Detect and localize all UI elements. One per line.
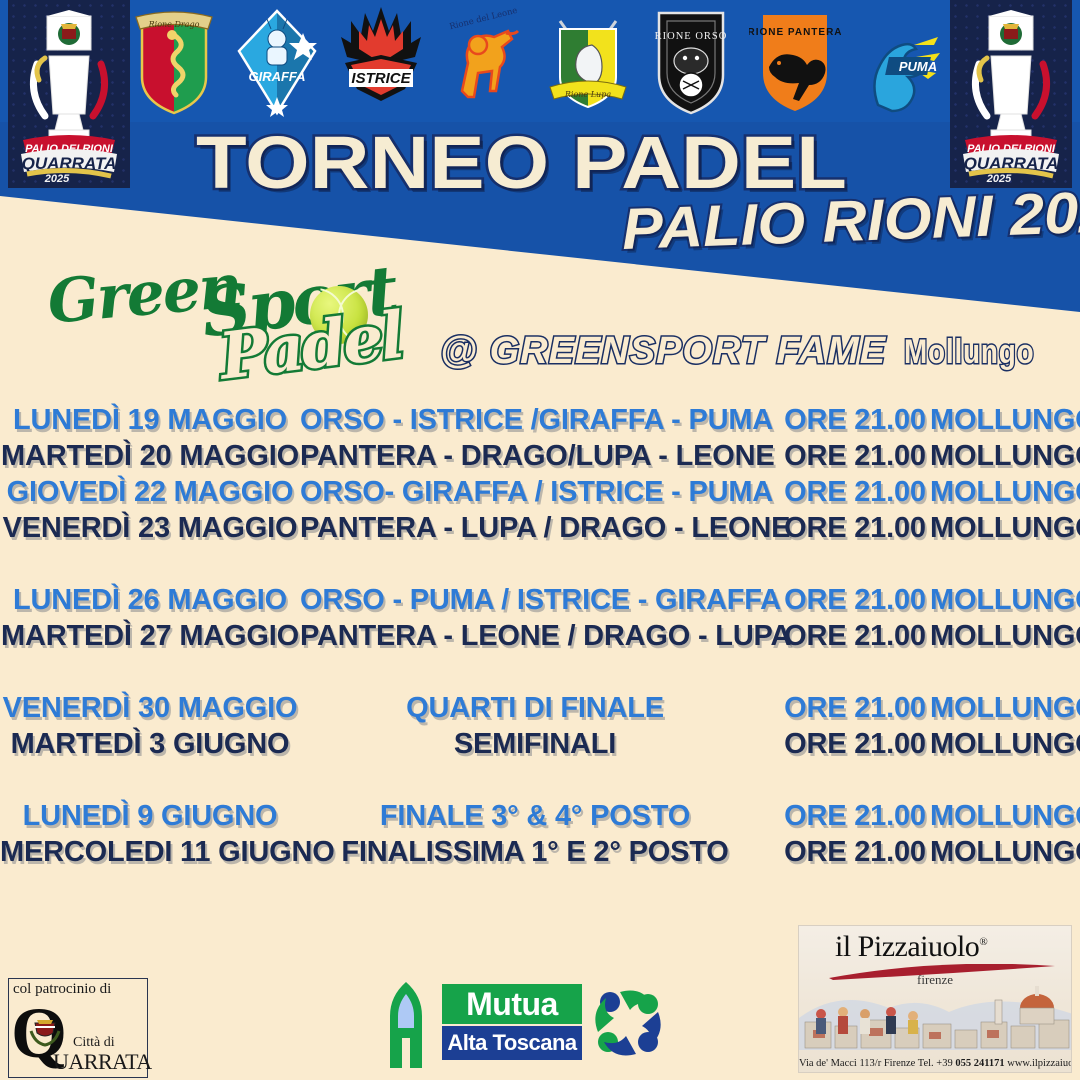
schedule-date: MARTEDÌ 20 MAGGIO: [0, 440, 300, 473]
schedule-row: MERCOLEDI 11 GIUGNOFINALISSIMA 1° E 2° P…: [0, 836, 1080, 870]
palio-logo-line3: 2025: [44, 173, 70, 184]
schedule-time: ORE 21.00: [770, 692, 940, 725]
schedule-venue: MOLLUNGO: [930, 692, 1080, 725]
greensport-padel-logo: Green Sport Padel: [42, 262, 422, 388]
schedule-time: ORE 21.00: [770, 836, 940, 869]
mutua-line1: Mutua: [442, 984, 582, 1024]
schedule-time: ORE 21.00: [770, 440, 940, 473]
mutua-arch-icon: [378, 982, 434, 1068]
schedule-match: PANTERA - DRAGO/LUPA - LEONE: [300, 440, 770, 473]
schedule-match: PANTERA - LUPA / DRAGO - LEONE: [300, 512, 770, 545]
schedule-time: ORE 21.00: [770, 584, 940, 617]
schedule-date: MARTEDÌ 3 GIUGNO: [0, 728, 300, 761]
schedule-match: QUARTI DI FINALE: [300, 692, 770, 725]
svg-text:GIRAFFA: GIRAFFA: [249, 69, 306, 84]
schedule-date: VENERDÌ 23 MAGGIO: [0, 512, 300, 545]
schedule-venue: MOLLUNGO: [930, 584, 1080, 617]
schedule-group: LUNEDÌ 26 MAGGIOORSO - PUMA / ISTRICE - …: [0, 584, 1080, 654]
pizzaiuolo-name-text: il Pizzaiuolo: [835, 930, 979, 963]
schedule-date: LUNEDÌ 19 MAGGIO: [0, 404, 300, 437]
crest-lupa: Rione Lupa: [542, 5, 634, 117]
crest-puma: PUMA: [852, 5, 944, 117]
crest-orso: RIONE ORSO: [645, 5, 737, 117]
pizzaiuolo-name: il Pizzaiuolo®: [835, 930, 987, 964]
schedule-group: LUNEDÌ 19 MAGGIOORSO - ISTRICE /GIRAFFA …: [0, 404, 1080, 546]
crest-istrice: ISTRICE: [335, 5, 427, 117]
schedule-time: ORE 21.00: [770, 728, 940, 761]
schedule-match: FINALISSIMA 1° E 2° POSTO: [300, 836, 770, 869]
schedule-date: LUNEDÌ 26 MAGGIO: [0, 584, 300, 617]
schedule-match: ORSO - PUMA / ISTRICE - GIRAFFA: [300, 584, 770, 617]
schedule-date: MARTEDÌ 27 MAGGIO: [0, 620, 300, 653]
pizzaiuolo-street: Via de' Macci 113/r Firenze Tel. +39: [799, 1058, 955, 1069]
schedule-time: ORE 21.00: [770, 800, 940, 833]
schedule-row: MARTEDÌ 3 GIUGNOSEMIFINALIORE 21.00MOLLU…: [0, 728, 1080, 762]
svg-text:RIONE PANTERA: RIONE PANTERA: [749, 27, 841, 38]
mutua-line2: Alta Toscana: [442, 1026, 582, 1060]
schedule-match: SEMIFINALI: [300, 728, 770, 761]
poster-canvas: Rione Drago GIRAFFA: [0, 0, 1080, 1080]
crest-leone: Rione del Leone: [438, 5, 530, 117]
schedule-venue: MOLLUNGO: [930, 440, 1080, 473]
schedule-venue: MOLLUNGO: [930, 800, 1080, 833]
rione-crests-row: Rione Drago GIRAFFA: [122, 0, 950, 122]
schedule-match: ORSO- GIRAFFA / ISTRICE - PUMA: [300, 476, 770, 509]
sponsor-mutua-alta-toscana: Mutua Alta Toscana: [378, 978, 660, 1074]
sponsor-il-pizzaiuolo: il Pizzaiuolo® firenze: [798, 925, 1072, 1073]
trophy-icon: PALIO DEI RIONI QUARRATA 2025: [15, 8, 123, 184]
svg-text:Rione Lupa: Rione Lupa: [564, 90, 611, 99]
svg-text:Rione Drago: Rione Drago: [148, 20, 200, 29]
schedule-date: MERCOLEDI 11 GIUGNO: [0, 836, 300, 869]
venue-heading: @ GREENSPORT FAMEMollungo: [440, 330, 1063, 373]
schedule-venue: MOLLUNGO: [930, 512, 1080, 545]
crest-pantera: RIONE PANTERA: [749, 5, 841, 117]
schedule-match: ORSO - ISTRICE /GIRAFFA - PUMA: [300, 404, 770, 437]
schedule-venue: MOLLUNGO: [930, 620, 1080, 653]
schedule-row: VENERDÌ 23 MAGGIOPANTERA - LUPA / DRAGO …: [0, 512, 1080, 546]
quarrata-coat-of-arms-icon: [27, 1013, 63, 1049]
quarrata-name-label: UARRATA: [53, 1049, 152, 1075]
schedule-row: LUNEDÌ 26 MAGGIOORSO - PUMA / ISTRICE - …: [0, 584, 1080, 618]
svg-text:Rione del Leone: Rione del Leone: [449, 6, 519, 33]
crest-giraffa: GIRAFFA: [231, 5, 323, 117]
mutua-people-circle-icon: [590, 984, 666, 1060]
schedule-row: LUNEDÌ 9 GIUGNOFINALE 3° & 4° POSTOORE 2…: [0, 800, 1080, 834]
schedule-venue: MOLLUNGO: [930, 476, 1080, 509]
schedule-match: PANTERA - LEONE / DRAGO - LUPA: [300, 620, 770, 653]
schedule-row: GIOVEDÌ 22 MAGGIOORSO- GIRAFFA / ISTRICE…: [0, 476, 1080, 510]
crest-drago: Rione Drago: [128, 5, 220, 117]
schedule-date: VENERDÌ 30 MAGGIO: [0, 692, 300, 725]
pizzaiuolo-address: Via de' Macci 113/r Firenze Tel. +39 055…: [799, 1058, 1071, 1069]
schedule-group: VENERDÌ 30 MAGGIOQUARTI DI FINALEORE 21.…: [0, 692, 1080, 762]
schedule-match: FINALE 3° & 4° POSTO: [300, 800, 770, 833]
schedule-row: LUNEDÌ 19 MAGGIOORSO - ISTRICE /GIRAFFA …: [0, 404, 1080, 438]
trophy-icon: PALIO DEI RIONI QUARRATA 2025: [957, 8, 1065, 184]
schedule-group: LUNEDÌ 9 GIUGNOFINALE 3° & 4° POSTOORE 2…: [0, 800, 1080, 870]
pizzaiuolo-phone: 055 241171: [955, 1058, 1004, 1069]
sponsor-comune-quarrata: col patrocinio di Q Città di UARRATA: [8, 978, 148, 1078]
palio-logo-left: PALIO DEI RIONI QUARRATA 2025: [8, 0, 130, 188]
schedule-time: ORE 21.00: [770, 512, 940, 545]
schedule-venue: MOLLUNGO: [930, 836, 1080, 869]
schedule-venue: MOLLUNGO: [930, 404, 1080, 437]
pizzaiuolo-website: www.ilpizzaiuolo.it: [1005, 1058, 1072, 1069]
schedule-time: ORE 21.00: [770, 620, 940, 653]
firenze-skyline-illustration: [799, 978, 1071, 1050]
schedule-row: MARTEDÌ 27 MAGGIOPANTERA - LEONE / DRAGO…: [0, 620, 1080, 654]
svg-text:RIONE ORSO: RIONE ORSO: [655, 31, 728, 42]
palio-logo-right: PALIO DEI RIONI QUARRATA 2025: [950, 0, 1072, 188]
schedule-row: VENERDÌ 30 MAGGIOQUARTI DI FINALEORE 21.…: [0, 692, 1080, 726]
venue-label: @ GREENSPORT FAME: [440, 330, 886, 372]
schedule-date: LUNEDÌ 9 GIUGNO: [0, 800, 300, 833]
venue-place: Mollungo: [904, 333, 1034, 372]
schedule-list: LUNEDÌ 19 MAGGIOORSO - ISTRICE /GIRAFFA …: [0, 404, 1080, 872]
schedule-time: ORE 21.00: [770, 476, 940, 509]
pizzaiuolo-registered-mark: ®: [979, 936, 987, 948]
svg-text:ISTRICE: ISTRICE: [351, 70, 411, 87]
schedule-venue: MOLLUNGO: [930, 728, 1080, 761]
schedule-row: MARTEDÌ 20 MAGGIOPANTERA - DRAGO/LUPA - …: [0, 440, 1080, 474]
svg-text:PUMA: PUMA: [899, 59, 937, 74]
schedule-time: ORE 21.00: [770, 404, 940, 437]
schedule-date: GIOVEDÌ 22 MAGGIO: [0, 476, 300, 509]
